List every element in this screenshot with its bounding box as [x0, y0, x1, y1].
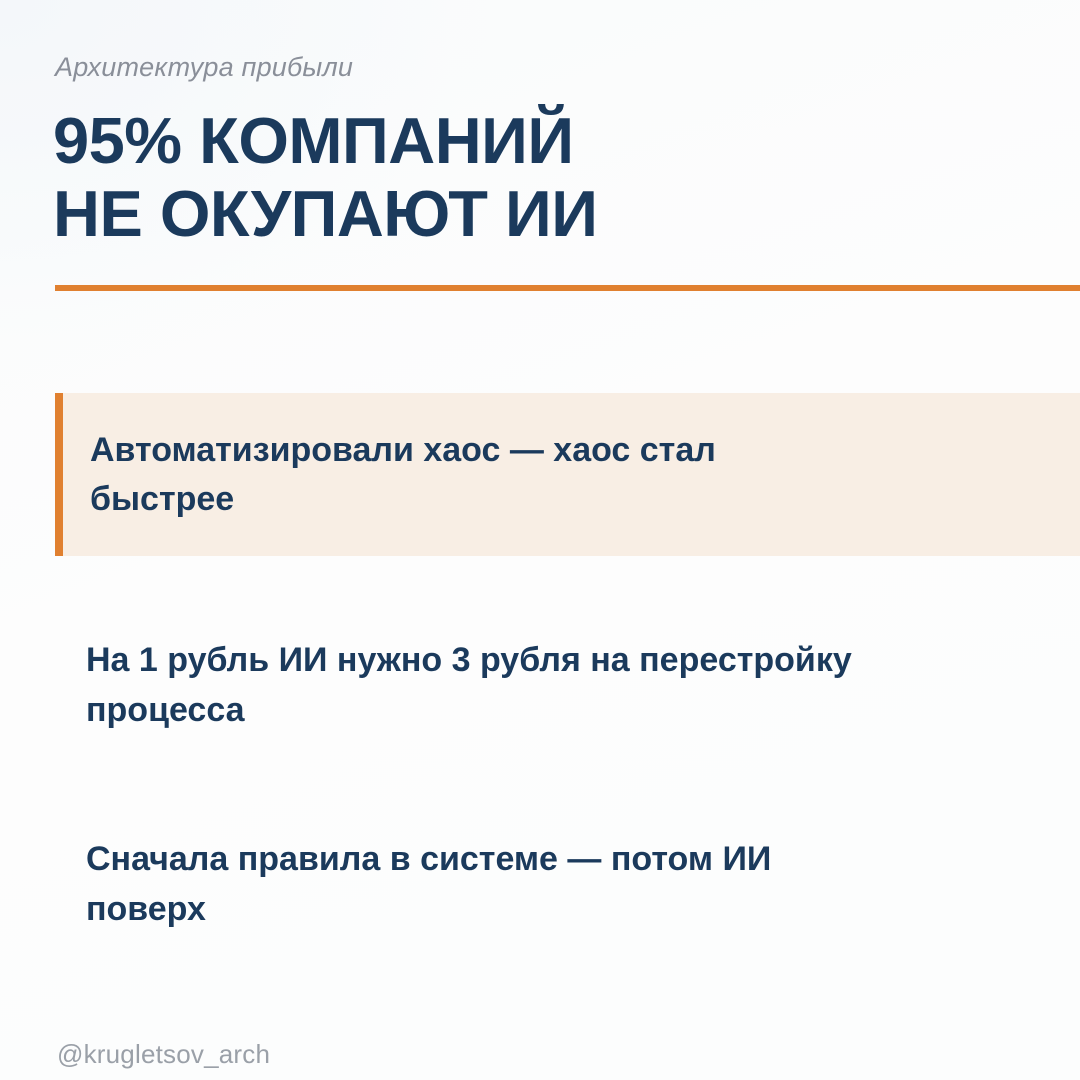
- list-item: Сначала правила в системе — потом ИИ пов…: [86, 835, 1061, 934]
- callout-text: Автоматизировали хаос — хаос стал быстре…: [55, 426, 756, 523]
- callout-accent-bar: [55, 393, 63, 556]
- author-handle: @krugletsov_arch: [57, 1039, 270, 1070]
- eyebrow-label: Архитектура прибыли: [55, 52, 353, 83]
- orange-divider: [55, 285, 1080, 291]
- points-list: На 1 рубль ИИ нужно 3 рубля на перестрой…: [86, 636, 1061, 935]
- list-item: На 1 рубль ИИ нужно 3 рубля на перестрой…: [86, 636, 1061, 735]
- callout-box: Автоматизировали хаос — хаос стал быстре…: [55, 393, 1080, 556]
- slide-canvas: Архитектура прибыли 95% КОМПАНИЙ НЕ ОКУП…: [0, 0, 1080, 1080]
- page-title: 95% КОМПАНИЙ НЕ ОКУПАЮТ ИИ: [53, 104, 597, 251]
